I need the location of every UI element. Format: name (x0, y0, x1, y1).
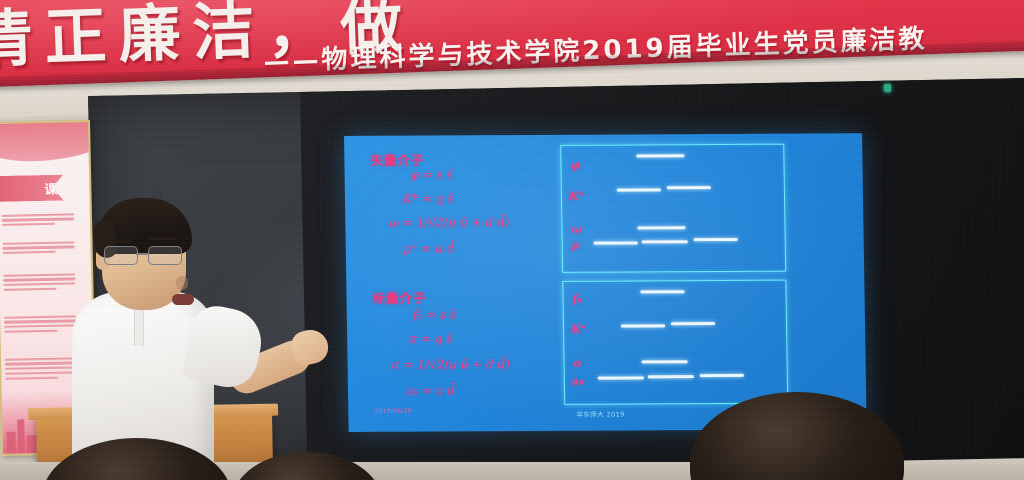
poster-ribbon-label: 课 (44, 179, 57, 198)
level-label-vector-3: ρ (572, 239, 580, 252)
slide-credit: 华东师大 2019 (576, 409, 624, 419)
poster-ribbon: 课 (0, 175, 64, 203)
slide-equation-scalar-2: σ = 1/√2(u ū + d d̄) (391, 357, 510, 372)
level-label-scalar-0: f₀ (572, 293, 582, 306)
speaker-brow-left (106, 240, 132, 243)
level-label-vector-0: φ (570, 159, 580, 172)
speaker-mouth (172, 294, 194, 305)
slide-equation-vector-1: K* = q s̄ (403, 191, 454, 205)
eyeglass-bridge (136, 253, 148, 255)
lecture-scene: 清正廉洁，做 ——物理科学与技术学院2019届毕业生党员廉洁教 课 (0, 0, 1024, 480)
level-label-vector-2: ω (571, 223, 582, 236)
projected-slide: 矢量介子 φ = s s̄ K* = q s̄ ω = 1/√2(u ū + d… (344, 133, 867, 432)
eyeglasses-icon (100, 246, 188, 264)
slide-equation-scalar-0: f₀ = s s̄ (413, 307, 456, 321)
projector-led-icon (884, 84, 891, 92)
level-label-scalar-2: σ (573, 357, 581, 370)
level-diagram-scalar (562, 280, 788, 405)
speaker-hand (288, 326, 331, 368)
slide-section-title-vector: 矢量介子 (370, 150, 424, 169)
slide-section-title-scalar: 标量介子 (372, 288, 426, 307)
speaker-brow-right (150, 237, 176, 240)
level-diagram-vector (560, 144, 786, 273)
speaker-figure (60, 190, 340, 480)
slide-date-stamp: 2019/06/20 (374, 408, 412, 415)
level-label-vector-1: K* (569, 190, 585, 203)
speaker-nose (176, 276, 188, 290)
slide-equation-scalar-1: κ = q s̄ (409, 331, 452, 345)
speaker-placket (134, 306, 144, 346)
eyeglass-lens-right (148, 246, 182, 265)
slide-equation-vector-2: ω = 1/√2(u ū + d d̄) (389, 215, 509, 230)
level-label-scalar-3: a₀ (572, 375, 584, 388)
slide-equation-vector-3: ρ⁺ = u d̄ (404, 241, 455, 255)
level-label-scalar-1: K* (571, 323, 587, 336)
eyeglass-lens-left (104, 246, 138, 265)
slide-equation-scalar-3: a₀ = u d̄ (406, 383, 455, 397)
poster-header-shape (0, 120, 97, 162)
slide-equation-vector-0: φ = s s̄ (411, 167, 453, 181)
